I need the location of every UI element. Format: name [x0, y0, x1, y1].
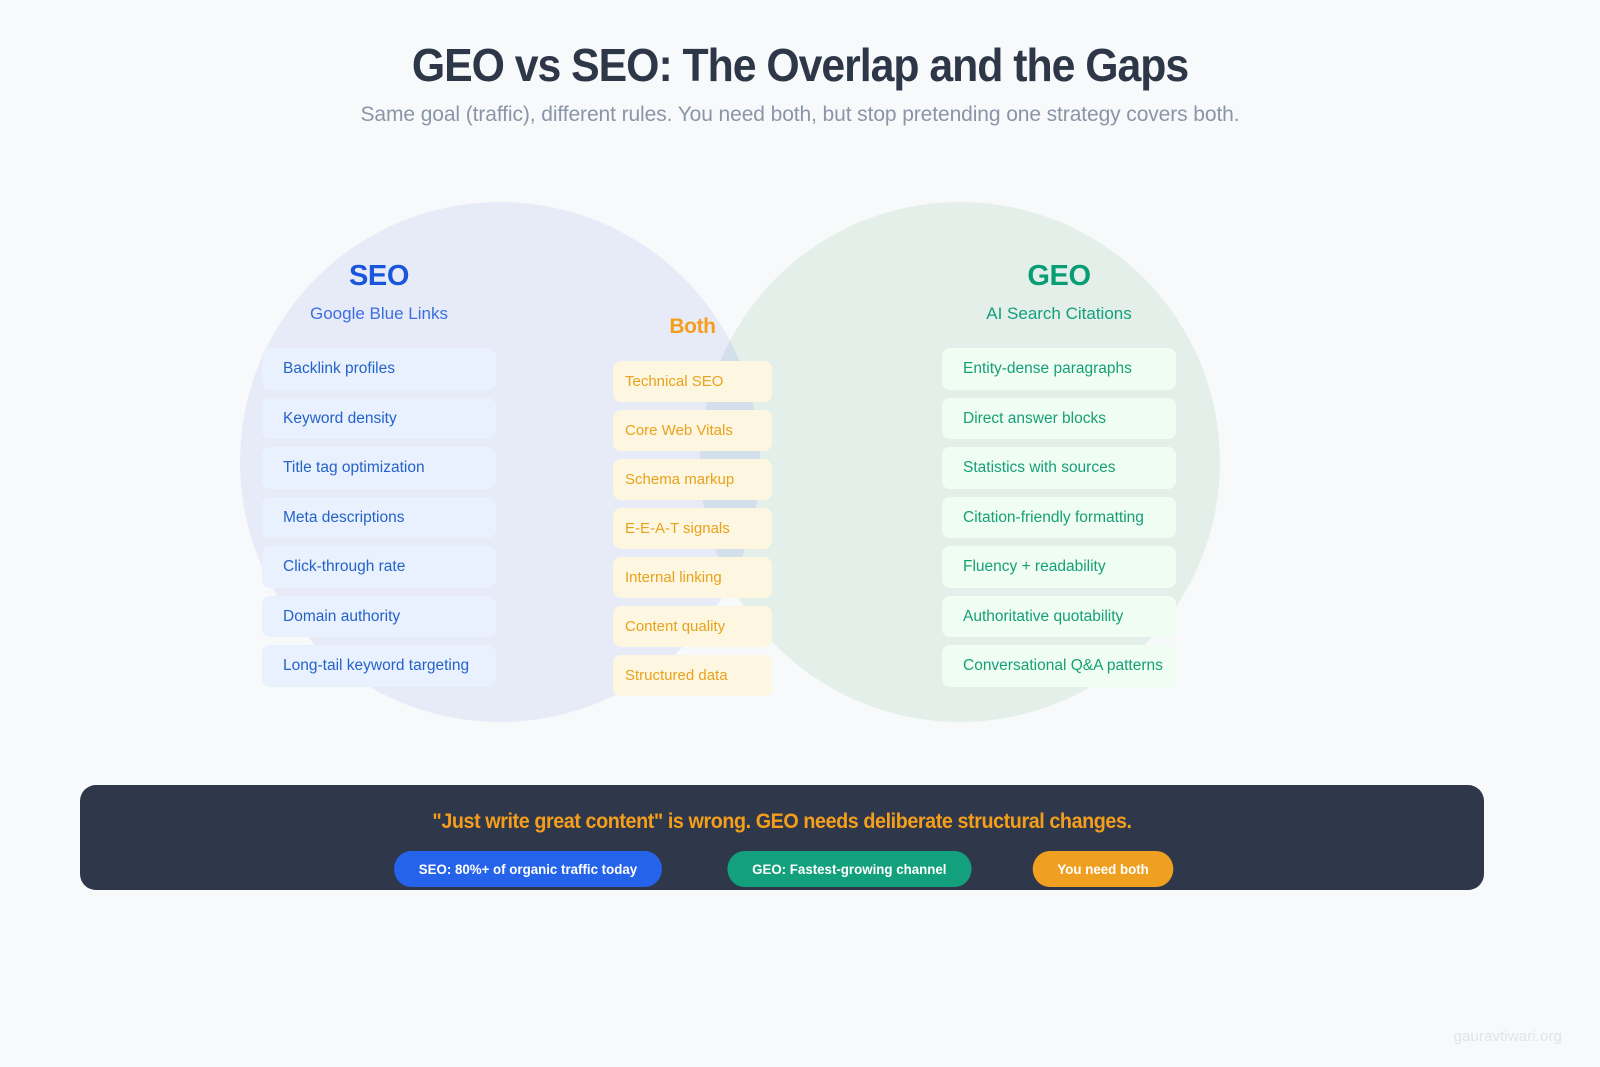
list-item[interactable]: Internal linking	[613, 557, 772, 598]
list-item[interactable]: Conversational Q&A patterns	[942, 645, 1176, 687]
list-item[interactable]: Entity-dense paragraphs	[942, 348, 1176, 390]
list-item[interactable]: Direct answer blocks	[942, 398, 1176, 440]
list-item[interactable]: Backlink profiles	[262, 348, 496, 390]
column-geo-heading: GEO	[942, 262, 1176, 291]
list-item[interactable]: E-E-A-T signals	[613, 508, 772, 549]
venn-diagram	[0, 0, 1600, 770]
list-item[interactable]: Long-tail keyword targeting	[262, 645, 496, 687]
column-geo-list: Entity-dense paragraphs Direct answer bl…	[942, 348, 1176, 687]
banner-headline: "Just write great content" is wrong. GEO…	[122, 785, 1442, 834]
list-item[interactable]: Content quality	[613, 606, 772, 647]
column-seo-list: Backlink profiles Keyword density Title …	[262, 348, 496, 687]
column-geo: GEO AI Search Citations Entity-dense par…	[942, 262, 1176, 687]
list-item[interactable]: Fluency + readability	[942, 546, 1176, 588]
column-both-list: Technical SEO Core Web Vitals Schema mar…	[613, 361, 772, 696]
column-geo-subheading: AI Search Citations	[942, 305, 1176, 322]
list-item[interactable]: Title tag optimization	[262, 447, 496, 489]
list-item[interactable]: Meta descriptions	[262, 497, 496, 539]
list-item[interactable]: Schema markup	[613, 459, 772, 500]
list-item[interactable]: Technical SEO	[613, 361, 772, 402]
list-item[interactable]: Domain authority	[262, 596, 496, 638]
chip-seo-traffic[interactable]: SEO: 80%+ of organic traffic today	[394, 851, 662, 887]
list-item[interactable]: Click-through rate	[262, 546, 496, 588]
column-seo-subheading: Google Blue Links	[262, 305, 496, 322]
column-both-heading: Both	[613, 316, 772, 337]
list-item[interactable]: Keyword density	[262, 398, 496, 440]
column-both: Both Technical SEO Core Web Vitals Schem…	[613, 316, 772, 696]
list-item[interactable]: Authoritative quotability	[942, 596, 1176, 638]
list-item[interactable]: Core Web Vitals	[613, 410, 772, 451]
list-item[interactable]: Statistics with sources	[942, 447, 1176, 489]
list-item[interactable]: Citation-friendly formatting	[942, 497, 1176, 539]
chip-geo-growth[interactable]: GEO: Fastest-growing channel	[727, 851, 971, 887]
list-item[interactable]: Structured data	[613, 655, 772, 696]
infographic-canvas: GEO vs SEO: The Overlap and the Gaps Sam…	[0, 0, 1600, 1067]
chip-you-need-both[interactable]: You need both	[1033, 851, 1174, 887]
column-seo: SEO Google Blue Links Backlink profiles …	[262, 262, 496, 687]
watermark: gauravtiwari.org	[1454, 1028, 1562, 1045]
column-seo-heading: SEO	[262, 262, 496, 291]
summary-banner: "Just write great content" is wrong. GEO…	[80, 785, 1484, 890]
banner-chip-row: SEO: 80%+ of organic traffic today GEO: …	[80, 851, 1484, 887]
